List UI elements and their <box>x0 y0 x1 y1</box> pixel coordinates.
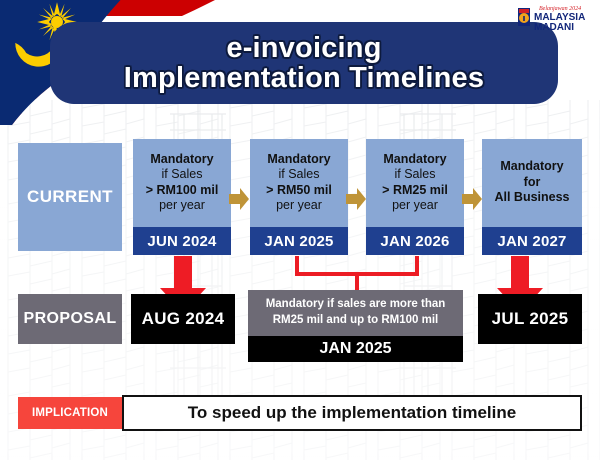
stage-4-line-2: for <box>524 175 541 190</box>
stage-3-date: JAN 2026 <box>366 227 464 255</box>
stage-2-date: JAN 2025 <box>250 227 348 255</box>
stage-card-2-text: Mandatory if Sales > RM50 mil per year <box>250 139 348 227</box>
stage-1-line-3: > RM100 mil <box>146 183 219 198</box>
svg-text:MADANI: MADANI <box>534 22 574 32</box>
stage-3-line-4: per year <box>392 198 438 213</box>
stage-2-line-4: per year <box>276 198 322 213</box>
stage-card-3: Mandatory if Sales > RM25 mil per year J… <box>366 139 464 255</box>
timeline-stage: CURRENT Mandatory if Sales > RM100 mil p… <box>0 104 600 460</box>
proposal-date-jul-2025: JUL 2025 <box>478 294 582 344</box>
title-banner: e-invoicing Implementation Timelines <box>50 22 558 104</box>
stage-2-line-3: > RM50 mil <box>266 183 332 198</box>
arrow-right-icon-1 <box>229 188 249 210</box>
stage-card-1: Mandatory if Sales > RM100 mil per year … <box>133 139 231 255</box>
stage-3-line-2: if Sales <box>395 167 436 182</box>
stage-2-line-2: if Sales <box>279 167 320 182</box>
row-label-current: CURRENT <box>18 143 122 251</box>
stage-4-line-3: All Business <box>494 190 569 205</box>
stage-card-1-text: Mandatory if Sales > RM100 mil per year <box>133 139 231 227</box>
title-line-2: Implementation Timelines <box>124 63 484 93</box>
arrow-right-icon-3 <box>462 188 482 210</box>
bracket-right-stem <box>415 256 419 276</box>
proposal-combo-line-1: Mandatory if sales are more than <box>266 297 446 313</box>
stage-card-3-text: Mandatory if Sales > RM25 mil per year <box>366 139 464 227</box>
stage-card-4-text: Mandatory for All Business <box>482 139 582 227</box>
proposal-combo-date: JAN 2025 <box>248 336 463 362</box>
implication-text: To speed up the implementation timeline <box>122 395 582 431</box>
stage-1-line-1: Mandatory <box>150 152 213 167</box>
implication-tag: IMPLICATION <box>18 397 122 429</box>
malaysia-madani-logo: Belanjawan 2024 MALAYSIA MADANI <box>516 2 594 32</box>
stage-2-line-1: Mandatory <box>267 152 330 167</box>
stage-card-4: Mandatory for All Business JAN 2027 <box>482 139 582 255</box>
stage-1-line-2: if Sales <box>162 167 203 182</box>
arrow-right-icon-2 <box>346 188 366 210</box>
stage-4-date: JAN 2027 <box>482 227 582 255</box>
stage-card-2: Mandatory if Sales > RM50 mil per year J… <box>250 139 348 255</box>
row-label-proposal: PROPOSAL <box>18 294 122 344</box>
stage-3-line-3: > RM25 mil <box>382 183 448 198</box>
proposal-combo-caption: Mandatory if sales are more than RM25 mi… <box>248 290 463 336</box>
svg-text:Belanjawan 2024: Belanjawan 2024 <box>539 5 581 12</box>
title-line-1: e-invoicing <box>226 33 381 63</box>
proposal-combo-line-2: RM25 mil and up to RM100 mil <box>273 313 439 329</box>
stage-1-date: JUN 2024 <box>133 227 231 255</box>
slide-canvas: Belanjawan 2024 MALAYSIA MADANI e-invoic… <box>0 0 600 460</box>
proposal-combo-jan-2025: Mandatory if sales are more than RM25 mi… <box>248 290 463 362</box>
proposal-date-aug-2024: AUG 2024 <box>131 294 235 344</box>
stage-3-line-1: Mandatory <box>383 152 446 167</box>
stage-4-line-1: Mandatory <box>500 159 563 174</box>
stage-1-line-4: per year <box>159 198 205 213</box>
